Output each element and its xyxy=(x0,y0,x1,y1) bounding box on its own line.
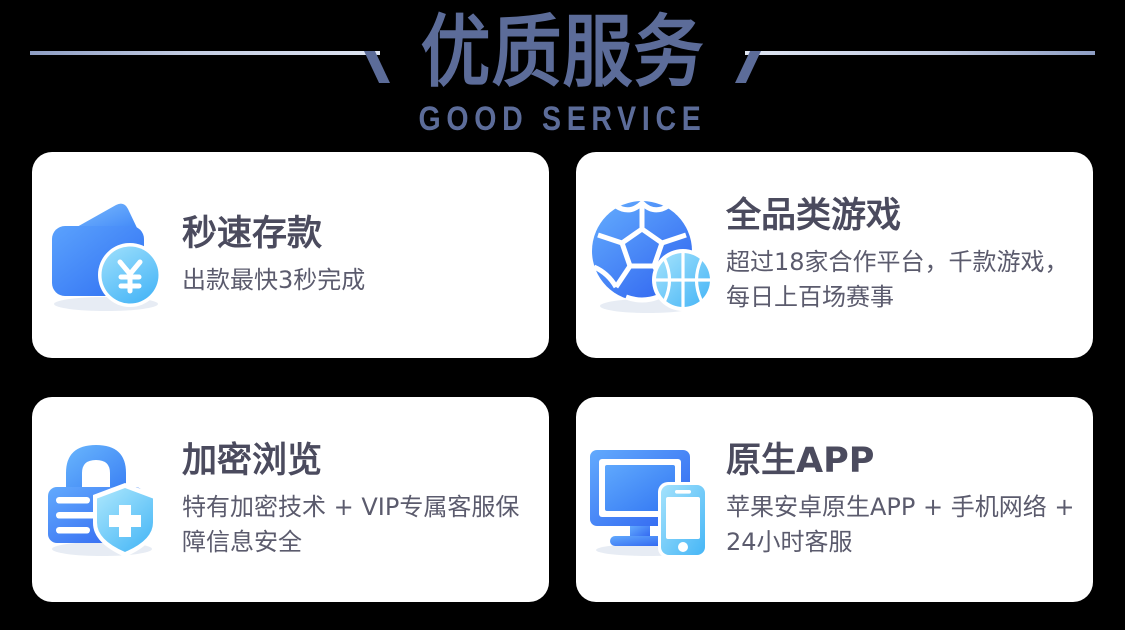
card-title: 全品类游戏 xyxy=(726,195,1079,237)
lock-shield-icon xyxy=(32,397,182,602)
wallet-yen-icon xyxy=(32,152,182,358)
page-header: 优质服务 GOOD SERVICE xyxy=(0,0,1125,150)
card-description: 苹果安卓原生APP + 手机网络 + 24小时客服 xyxy=(726,490,1078,560)
monitor-phone-icon xyxy=(576,397,726,602)
card-text-block: 加密浏览 特有加密技术 + VIP专属客服保障信息安全 xyxy=(182,440,549,560)
page-subtitle: GOOD SERVICE xyxy=(28,100,1097,139)
service-card-deposit[interactable]: 秒速存款 出款最快3秒完成 xyxy=(32,152,549,358)
card-title: 秒速存款 xyxy=(182,213,535,255)
card-description: 特有加密技术 + VIP专属客服保障信息安全 xyxy=(182,490,534,560)
service-card-games[interactable]: 全品类游戏 超过18家合作平台，千款游戏，每日上百场赛事 xyxy=(576,152,1093,358)
card-description: 出款最快3秒完成 xyxy=(182,263,512,298)
card-text-block: 全品类游戏 超过18家合作平台，千款游戏，每日上百场赛事 xyxy=(726,195,1093,315)
card-description: 超过18家合作平台，千款游戏，每日上百场赛事 xyxy=(726,245,1078,315)
page-title: 优质服务 xyxy=(0,6,1125,98)
card-text-block: 原生APP 苹果安卓原生APP + 手机网络 + 24小时客服 xyxy=(726,440,1093,560)
card-title: 加密浏览 xyxy=(182,440,535,482)
card-title: 原生APP xyxy=(726,440,1079,482)
service-card-grid: 秒速存款 出款最快3秒完成 xyxy=(32,152,1093,602)
card-text-block: 秒速存款 出款最快3秒完成 xyxy=(182,213,549,298)
service-card-encryption[interactable]: 加密浏览 特有加密技术 + VIP专属客服保障信息安全 xyxy=(32,397,549,602)
soccer-basketball-icon xyxy=(576,152,726,358)
service-card-native-app[interactable]: 原生APP 苹果安卓原生APP + 手机网络 + 24小时客服 xyxy=(576,397,1093,602)
